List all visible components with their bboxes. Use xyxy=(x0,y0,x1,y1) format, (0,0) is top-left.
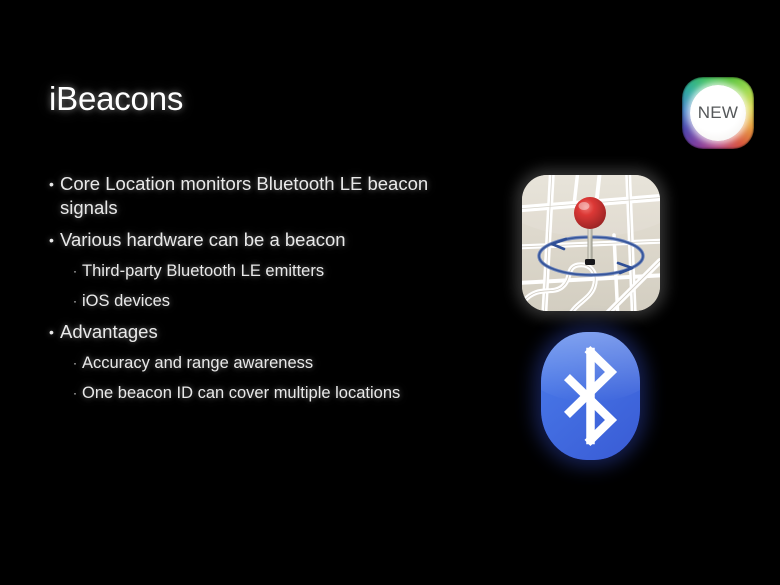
bullet-item: ·Accuracy and range awareness xyxy=(49,352,449,374)
new-badge: NEW xyxy=(682,77,754,149)
bullet-text: Various hardware can be a beacon xyxy=(60,228,449,252)
bullet-item: •Core Location monitors Bluetooth LE bea… xyxy=(49,172,449,220)
bullet-dot-icon: • xyxy=(49,320,60,344)
bullet-dot-icon: · xyxy=(73,382,82,404)
bullet-text: Core Location monitors Bluetooth LE beac… xyxy=(60,172,449,220)
bullet-item: •Advantages xyxy=(49,320,449,344)
bullet-item: ·Third-party Bluetooth LE emitters xyxy=(49,260,449,282)
new-badge-label: NEW xyxy=(682,77,754,149)
page-title: iBeacons xyxy=(49,80,183,118)
bullet-text: Accuracy and range awareness xyxy=(82,352,449,374)
bullet-item: ·One beacon ID can cover multiple locati… xyxy=(49,382,449,404)
bullet-text: Advantages xyxy=(60,320,449,344)
bullet-dot-icon: • xyxy=(49,228,60,252)
bullet-text: One beacon ID can cover multiple locatio… xyxy=(82,382,449,404)
bullet-text: Third-party Bluetooth LE emitters xyxy=(82,260,449,282)
presentation-slide: iBeacons NEW •Core Location monitors Blu… xyxy=(0,0,780,585)
bullet-text: iOS devices xyxy=(82,290,449,312)
bullet-dot-icon: · xyxy=(73,290,82,312)
bullet-dot-icon: · xyxy=(73,352,82,374)
bullet-dot-icon: • xyxy=(49,172,60,196)
bullet-list: •Core Location monitors Bluetooth LE bea… xyxy=(49,172,449,412)
bluetooth-icon xyxy=(541,332,640,460)
bullet-item: •Various hardware can be a beacon xyxy=(49,228,449,252)
bullet-dot-icon: · xyxy=(73,260,82,282)
map-location-icon xyxy=(522,175,660,311)
bullet-item: ·iOS devices xyxy=(49,290,449,312)
